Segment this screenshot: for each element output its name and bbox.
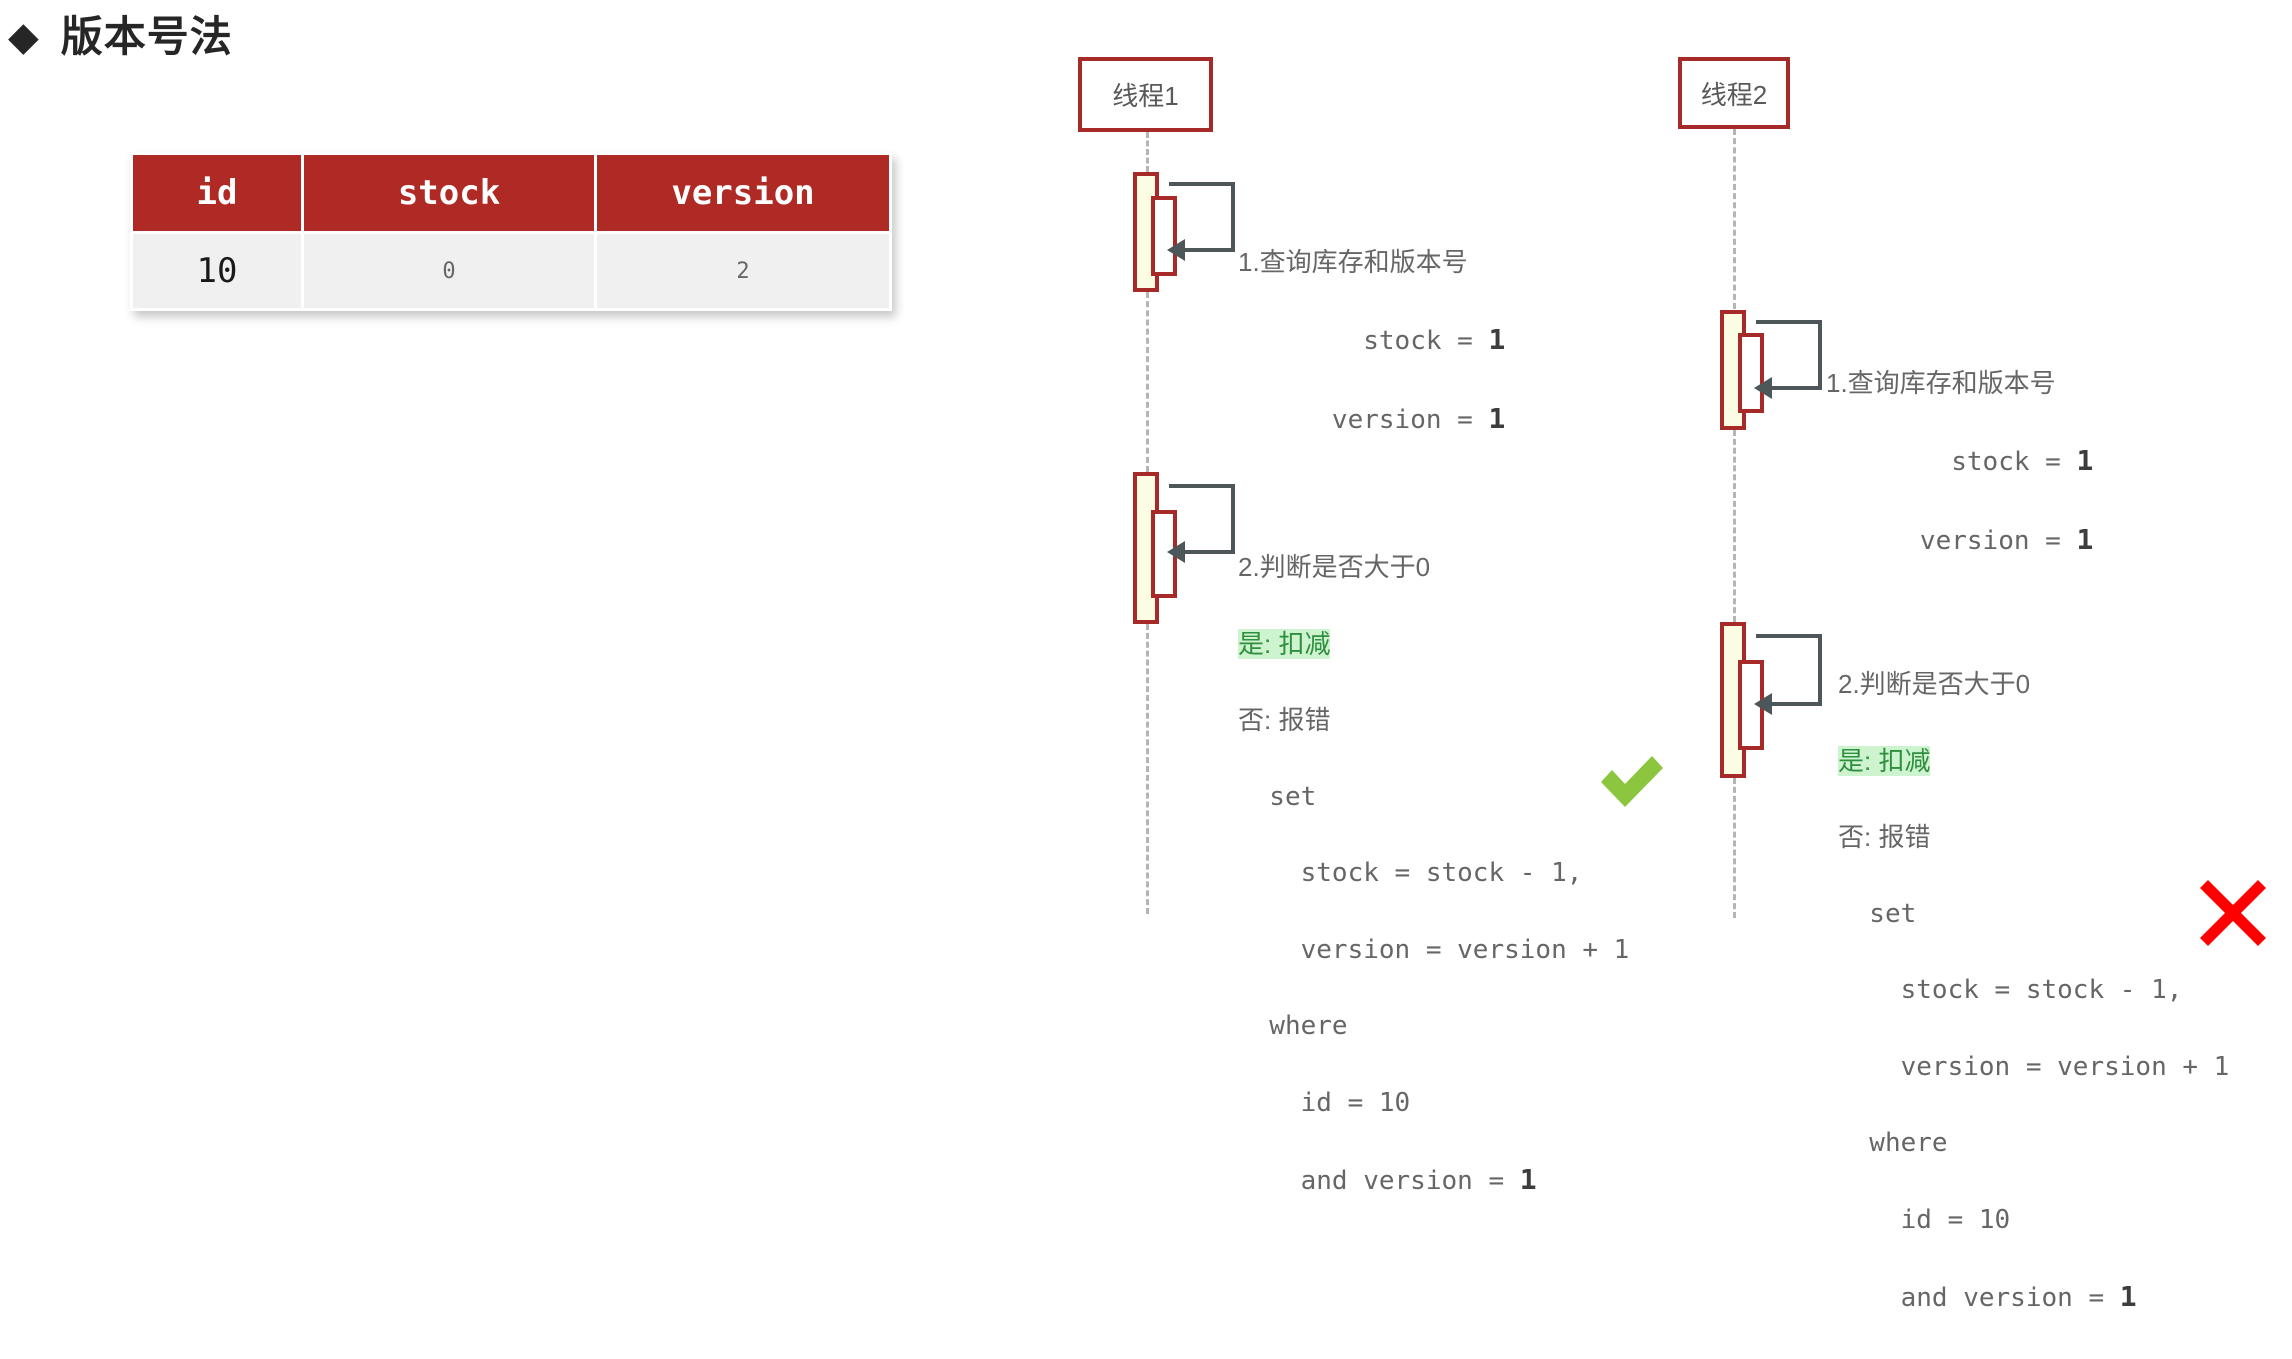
sql-line-prefix: and version = [1238, 1166, 1520, 1196]
loop-right-segment [1231, 484, 1235, 554]
sql-line-version-thread2: version = version + 1 [1838, 1050, 2229, 1084]
lifeline-thread2-seg1 [1733, 129, 1736, 309]
message-line-version-thread2-1: version = 1 [1826, 522, 2093, 559]
loop-top-segment [1169, 182, 1235, 186]
message-title-thread2-2: 2.判断是否大于0 [1838, 667, 2229, 701]
lifeline-thread2-seg2 [1733, 430, 1736, 622]
table-row: 10 0 2 [133, 234, 889, 308]
sql-line-stock-thread2: stock = stock - 1, [1838, 973, 2229, 1007]
loop-bottom-segment [1185, 550, 1235, 554]
sql-line-and-version-thread2: and version = 1 [1838, 1279, 2229, 1316]
cell-version: 2 [597, 234, 889, 308]
message-yes-branch-thread2-2: 是: 扣减 [1838, 744, 2229, 778]
loop-top-segment [1756, 320, 1822, 324]
sql-line-where-thread1: where [1238, 1009, 1629, 1043]
message-line-code: version = [1332, 405, 1489, 435]
message-line-indent [1826, 447, 1951, 477]
sql-line-value: 1 [1520, 1163, 1537, 1196]
message-line-indent [1826, 526, 1920, 556]
lane-label-thread1: 线程1 [1112, 76, 1178, 113]
message-line-value: 1 [2076, 523, 2093, 556]
message-line-code: version = [1920, 526, 2077, 556]
sql-line-stock-thread1: stock = stock - 1, [1238, 856, 1629, 890]
loop-top-segment [1169, 484, 1235, 488]
sql-line-and-version-thread1: and version = 1 [1238, 1162, 1629, 1199]
self-message-arrow-thread1-2 [1159, 484, 1235, 558]
column-header-stock: stock [304, 155, 594, 231]
loop-arrowhead [1167, 541, 1185, 563]
cell-stock: 0 [304, 234, 594, 308]
bullet-diamond-icon: ◆ [8, 17, 39, 57]
message-no-branch-thread2-2: 否: 报错 [1838, 820, 2229, 854]
table-header-row: id stock version [133, 155, 889, 231]
loop-right-segment [1818, 320, 1822, 390]
loop-bottom-segment [1772, 702, 1822, 706]
lifeline-header-thread2: 线程2 [1678, 57, 1790, 129]
lifeline-header-thread1: 线程1 [1078, 57, 1213, 132]
message-line-code: stock = [1951, 447, 2076, 477]
lane-label-thread2: 线程2 [1701, 75, 1767, 112]
message-text-thread2-1: 1.查询库存和版本号 stock = 1 version = 1 [1826, 324, 2093, 601]
sql-line-id-thread1: id = 10 [1238, 1086, 1629, 1120]
loop-bottom-segment [1185, 248, 1235, 252]
loop-bottom-segment [1772, 386, 1822, 390]
sql-line-set-thread2: set [1838, 897, 2229, 931]
column-header-id: id [133, 155, 301, 231]
yes-branch-highlight: 是: 扣减 [1838, 746, 1930, 776]
lifeline-thread1-seg2 [1146, 292, 1149, 472]
message-title-thread1-1: 1.查询库存和版本号 [1238, 245, 1505, 279]
sql-line-version-thread1: version = version + 1 [1238, 933, 1629, 967]
stock-table: id stock version 10 0 2 [130, 152, 892, 311]
message-no-branch-thread1-2: 否: 报错 [1238, 703, 1629, 737]
message-line-stock-thread1-1: stock = 1 [1238, 322, 1505, 359]
message-line-code: stock = [1363, 326, 1488, 356]
message-line-value: 1 [2076, 444, 2093, 477]
page-title-text: 版本号法 [61, 16, 233, 58]
message-line-indent [1238, 326, 1363, 356]
sql-line-set-thread1: set [1238, 780, 1629, 814]
sql-line-value: 1 [2120, 1280, 2137, 1313]
column-header-version: version [597, 155, 889, 231]
self-message-arrow-thread1-1 [1159, 182, 1235, 256]
message-line-stock-thread2-1: stock = 1 [1826, 443, 2093, 480]
yes-branch-highlight: 是: 扣减 [1238, 629, 1330, 659]
lifeline-thread1-seg3 [1146, 624, 1149, 914]
message-yes-branch-thread1-2: 是: 扣减 [1238, 627, 1629, 661]
failure-cross-icon [2198, 878, 2268, 948]
loop-arrowhead [1754, 377, 1772, 399]
self-message-arrow-thread2-1 [1746, 320, 1822, 394]
message-line-value: 1 [1488, 323, 1505, 356]
message-line-indent [1238, 405, 1332, 435]
success-check-icon [1596, 750, 1668, 812]
self-message-arrow-thread2-2 [1746, 634, 1822, 710]
message-text-thread1-2: 2.判断是否大于0 是: 扣减 否: 报错 set stock = stock … [1238, 508, 1629, 1242]
sql-line-where-thread2: where [1838, 1126, 2229, 1160]
lifeline-thread1-seg1 [1146, 132, 1149, 172]
message-title-thread1-2: 2.判断是否大于0 [1238, 550, 1629, 584]
loop-right-segment [1818, 634, 1822, 706]
cell-id: 10 [133, 234, 301, 308]
loop-arrowhead [1167, 239, 1185, 261]
sql-line-prefix: and version = [1838, 1283, 2120, 1313]
loop-right-segment [1231, 182, 1235, 252]
message-line-version-thread1-1: version = 1 [1238, 401, 1505, 438]
sql-line-id-thread2: id = 10 [1838, 1203, 2229, 1237]
message-title-thread2-1: 1.查询库存和版本号 [1826, 366, 2093, 400]
message-text-thread1-1: 1.查询库存和版本号 stock = 1 version = 1 [1238, 203, 1505, 480]
loop-arrowhead [1754, 693, 1772, 715]
message-text-thread2-2: 2.判断是否大于0 是: 扣减 否: 报错 set stock = stock … [1838, 625, 2229, 1359]
slide-canvas: ◆ 版本号法 id stock version 10 0 2 线程1 [0, 0, 2292, 934]
message-line-value: 1 [1488, 402, 1505, 435]
loop-top-segment [1756, 634, 1822, 638]
page-title: ◆ 版本号法 [8, 16, 233, 58]
lifeline-thread2-seg3 [1733, 778, 1736, 918]
